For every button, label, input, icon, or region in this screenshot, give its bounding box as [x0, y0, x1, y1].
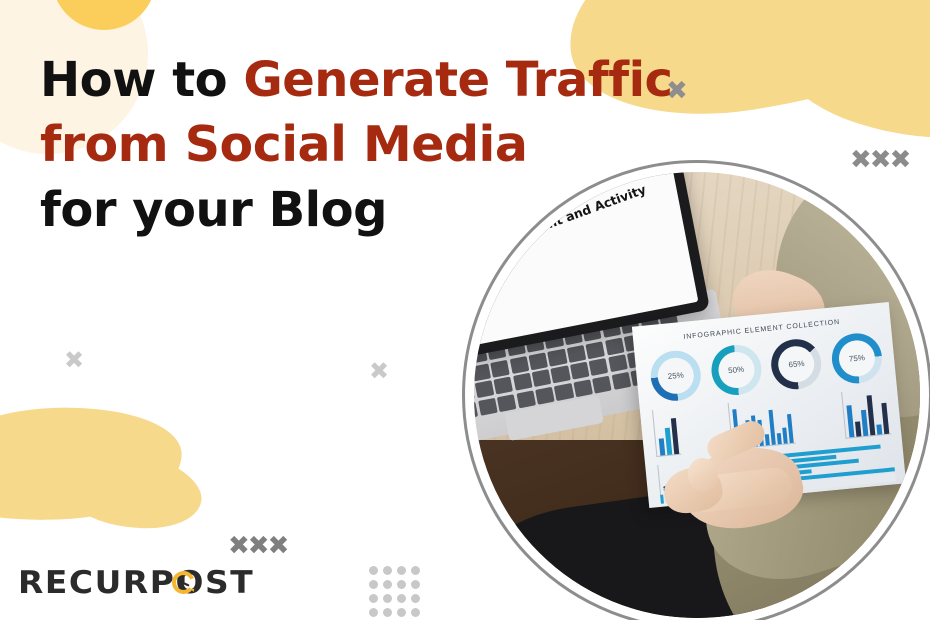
keyboard-key — [586, 341, 606, 359]
dot-grid-decoration — [369, 566, 425, 620]
keyboard-key — [516, 390, 536, 408]
keyboard-key — [551, 366, 571, 384]
keyboard-key — [474, 363, 491, 381]
x-mark-triple-bottom-icon: ✖✖✖ — [228, 533, 287, 559]
yellow-blob-top-right-tail — [743, 0, 930, 167]
donut-chart: 25% — [648, 349, 703, 404]
keyboard-key — [548, 348, 568, 366]
keyboard-key — [592, 375, 612, 393]
yellow-blob-bottom-left-arm — [0, 432, 110, 494]
keyboard-key — [475, 380, 495, 398]
photo-scene: Monitor AnalyticsConsistent BrandingDire… — [474, 172, 920, 618]
grid-dot — [369, 608, 378, 617]
keyboard-key — [497, 394, 517, 412]
bar — [776, 434, 781, 445]
grid-dot — [397, 608, 406, 617]
bar-chart-group — [841, 388, 891, 439]
keyboard-key — [567, 345, 587, 363]
logo-wordmark: RECURPOST — [18, 565, 254, 601]
donut-value-label: 25% — [650, 369, 701, 383]
keyboard-key — [589, 358, 609, 376]
bar — [764, 434, 769, 446]
bar — [786, 414, 793, 443]
bar — [855, 421, 861, 436]
grid-dot — [411, 594, 420, 603]
keyboard-key — [478, 398, 498, 416]
bar — [861, 410, 868, 436]
x-mark-triple-right-icon: ✖✖✖ — [850, 147, 909, 173]
donut-chart: 65% — [769, 337, 824, 392]
grid-dot — [383, 594, 392, 603]
headline-line-1-black: How to — [40, 52, 243, 108]
keyboard-key — [513, 373, 533, 391]
bar — [768, 410, 775, 445]
keyboard-key — [535, 387, 555, 405]
grid-dot — [411, 608, 420, 617]
bar — [881, 403, 889, 434]
keyboard-key — [605, 337, 625, 355]
grid-dot — [397, 580, 406, 589]
grid-dot — [411, 580, 420, 589]
donut-value-label: 75% — [832, 351, 883, 365]
headline-line-2: from Social Media — [40, 112, 660, 178]
headline-line-1-red: Generate Traffic — [243, 52, 672, 108]
keyboard-key — [573, 379, 593, 397]
grid-dot — [369, 566, 378, 575]
grid-dot — [369, 580, 378, 589]
grid-dot — [397, 594, 406, 603]
donut-value-label: 65% — [771, 357, 822, 371]
hero-photo: Monitor AnalyticsConsistent BrandingDire… — [474, 172, 920, 618]
grid-dot — [383, 580, 392, 589]
keyboard-key — [509, 356, 529, 374]
keyboard-key — [490, 359, 510, 377]
poster-canvas: ✖ ✖✖✖ ✖ ✖ ✖✖✖ How to Generate Traffic fr… — [0, 0, 930, 620]
recurpost-logo[interactable]: RECURPOST — [18, 566, 241, 600]
yellow-blob-bottom-left-tail — [55, 436, 209, 544]
grid-dot — [397, 566, 406, 575]
keyboard-key — [611, 372, 631, 390]
x-mark-left-icon: ✖ — [64, 348, 84, 372]
bar — [671, 418, 679, 454]
bar-chart-group — [652, 408, 681, 457]
donut-value-label: 50% — [711, 363, 762, 377]
keyboard-key — [532, 369, 552, 387]
x-mark-center-icon: ✖ — [369, 359, 389, 383]
grid-dot — [411, 566, 420, 575]
bar — [659, 439, 666, 456]
grid-dot — [369, 594, 378, 603]
bar — [876, 425, 882, 435]
grid-dot — [383, 566, 392, 575]
keyboard-key — [570, 362, 590, 380]
keyboard-key — [608, 354, 628, 372]
donut-chart: 50% — [709, 343, 764, 398]
keyboard-key — [528, 352, 548, 370]
grid-dot — [383, 608, 392, 617]
bar — [782, 428, 787, 444]
yellow-circle-decoration — [52, 0, 156, 30]
yellow-blob-bottom-left — [0, 399, 186, 529]
headline-line-1: How to Generate Traffic — [40, 48, 660, 112]
clock-refresh-icon — [170, 569, 197, 596]
donut-chart: 75% — [830, 331, 885, 386]
bar — [846, 405, 854, 437]
keyboard-key — [554, 383, 574, 401]
keyboard-key — [494, 377, 514, 395]
